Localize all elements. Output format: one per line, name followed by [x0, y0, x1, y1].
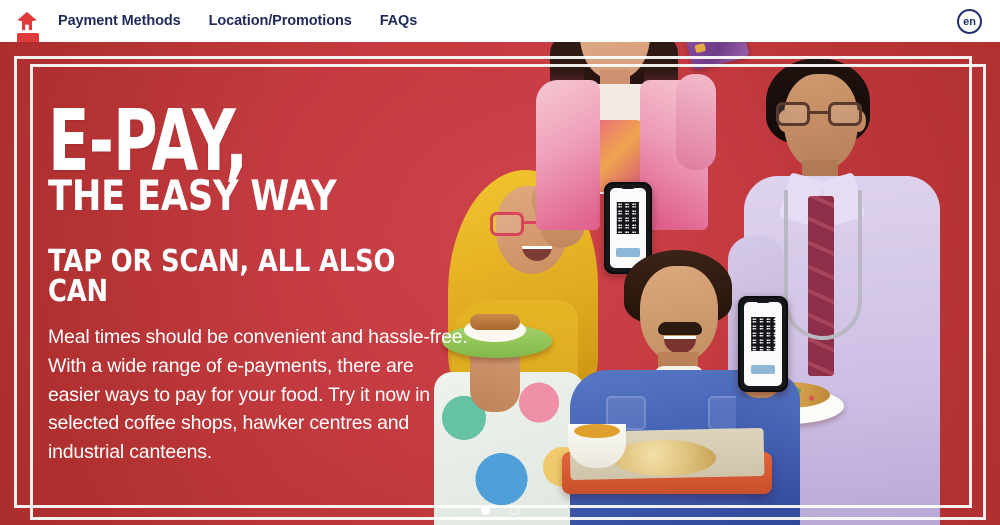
- nav-item-location-promotions[interactable]: Location/Promotions: [195, 0, 366, 42]
- language-label: en: [963, 16, 976, 28]
- home-icon: [16, 11, 38, 31]
- nav-item-faqs[interactable]: FAQs: [366, 0, 431, 42]
- primary-navigation: Payment Methods Location/Promotions FAQs: [10, 0, 431, 42]
- carousel-pagination: [0, 506, 1000, 515]
- home-active-indicator: [17, 33, 39, 42]
- site-header: Payment Methods Location/Promotions FAQs…: [0, 0, 1000, 42]
- home-button[interactable]: [10, 0, 44, 42]
- card-chip-icon: [694, 43, 706, 53]
- decorative-frame-inner: [30, 64, 986, 520]
- page-root: Payment Methods Location/Promotions FAQs…: [0, 0, 1000, 525]
- carousel-dot-2[interactable]: [510, 506, 519, 515]
- nav-item-payment-methods[interactable]: Payment Methods: [44, 0, 195, 42]
- carousel-dot-1[interactable]: [481, 506, 490, 515]
- hero-banner: E-PAY, THE EASY WAY TAP OR SCAN, ALL ALS…: [0, 42, 1000, 525]
- language-selector[interactable]: en: [957, 9, 982, 34]
